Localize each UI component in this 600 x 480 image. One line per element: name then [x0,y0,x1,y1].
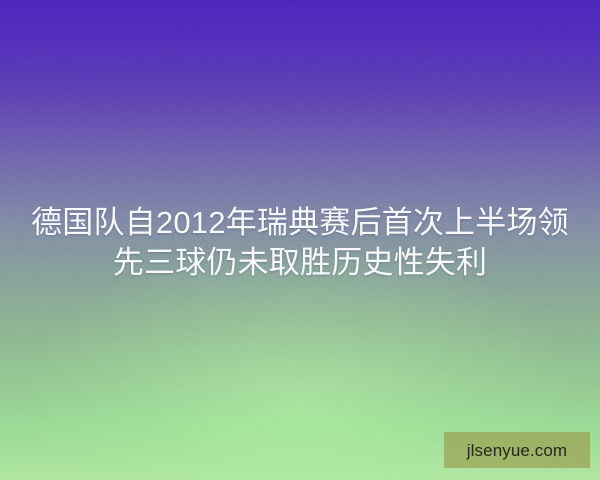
headline-text: 德国队自2012年瑞典赛后首次上半场领 先三球仍未取胜历史性失利 [0,203,600,283]
headline-line-2: 先三球仍未取胜历史性失利 [24,243,576,283]
watermark-badge: jlsenyue.com [444,432,590,468]
headline-line-1: 德国队自2012年瑞典赛后首次上半场领 [24,203,576,243]
watermark-label: jlsenyue.com [467,442,567,459]
banner-image: 德国队自2012年瑞典赛后首次上半场领 先三球仍未取胜历史性失利 jlsenyu… [0,0,600,480]
